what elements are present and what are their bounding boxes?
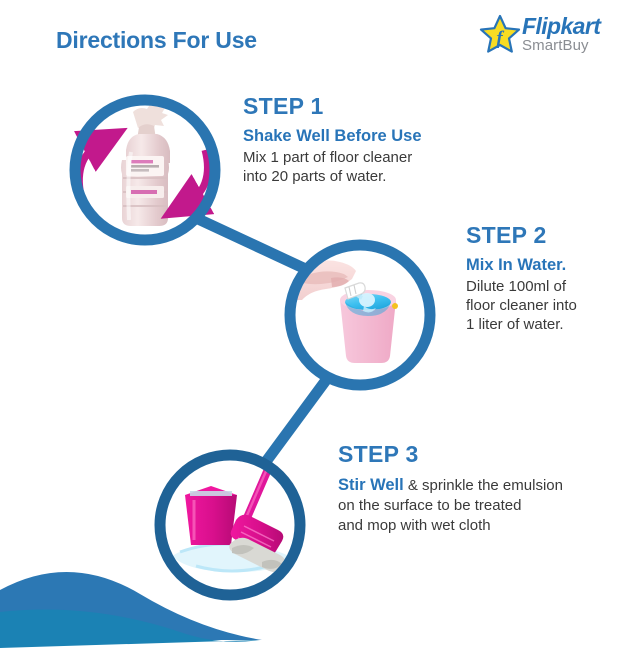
step-2-body-line-2: floor cleaner into <box>466 296 577 315</box>
step-1-illustration <box>75 100 215 240</box>
step-1-body-line-1: Mix 1 part of floor cleaner <box>243 148 422 167</box>
step-3-body-line-2: on the surface to be treated <box>338 496 563 516</box>
step-2-body: Dilute 100ml of floor cleaner into 1 lit… <box>466 277 577 334</box>
infographic-page: Directions For Use f Flipkart SmartBuy <box>0 0 629 650</box>
step-2-heading: Mix In Water. <box>466 256 577 275</box>
magenta-bucket-icon <box>185 486 237 545</box>
step-1-number: STEP 1 <box>243 93 422 120</box>
step-3-body-line-3: and mop with wet cloth <box>338 516 563 536</box>
step-3-text-block: STEP 3 Stir Well & sprinkle the emulsion… <box>338 441 563 536</box>
step-2-text-block: STEP 2 Mix In Water. Dilute 100ml of flo… <box>466 222 577 334</box>
step-3-heading-rest: & sprinkle the emulsion <box>404 477 563 494</box>
step-1-heading: Shake Well Before Use <box>243 127 422 146</box>
step-3-number: STEP 3 <box>338 441 563 468</box>
step-3-illustration <box>160 455 300 595</box>
pink-bucket-icon <box>340 290 398 363</box>
step-2-body-line-3: 1 liter of water. <box>466 315 577 334</box>
step-1-body-line-2: into 20 parts of water. <box>243 167 422 186</box>
step-2-body-line-1: Dilute 100ml of <box>466 277 577 296</box>
step-3-body-line-1: Stir Well & sprinkle the emulsion <box>338 475 563 496</box>
step-3-body: Stir Well & sprinkle the emulsion on the… <box>338 475 563 536</box>
step-2-illustration <box>286 245 430 385</box>
step-1-body: Mix 1 part of floor cleaner into 20 part… <box>243 148 422 186</box>
step-1-text-block: STEP 1 Shake Well Before Use Mix 1 part … <box>243 93 422 186</box>
step-2-number: STEP 2 <box>466 222 577 249</box>
step-3-heading: Stir Well <box>338 476 404 494</box>
